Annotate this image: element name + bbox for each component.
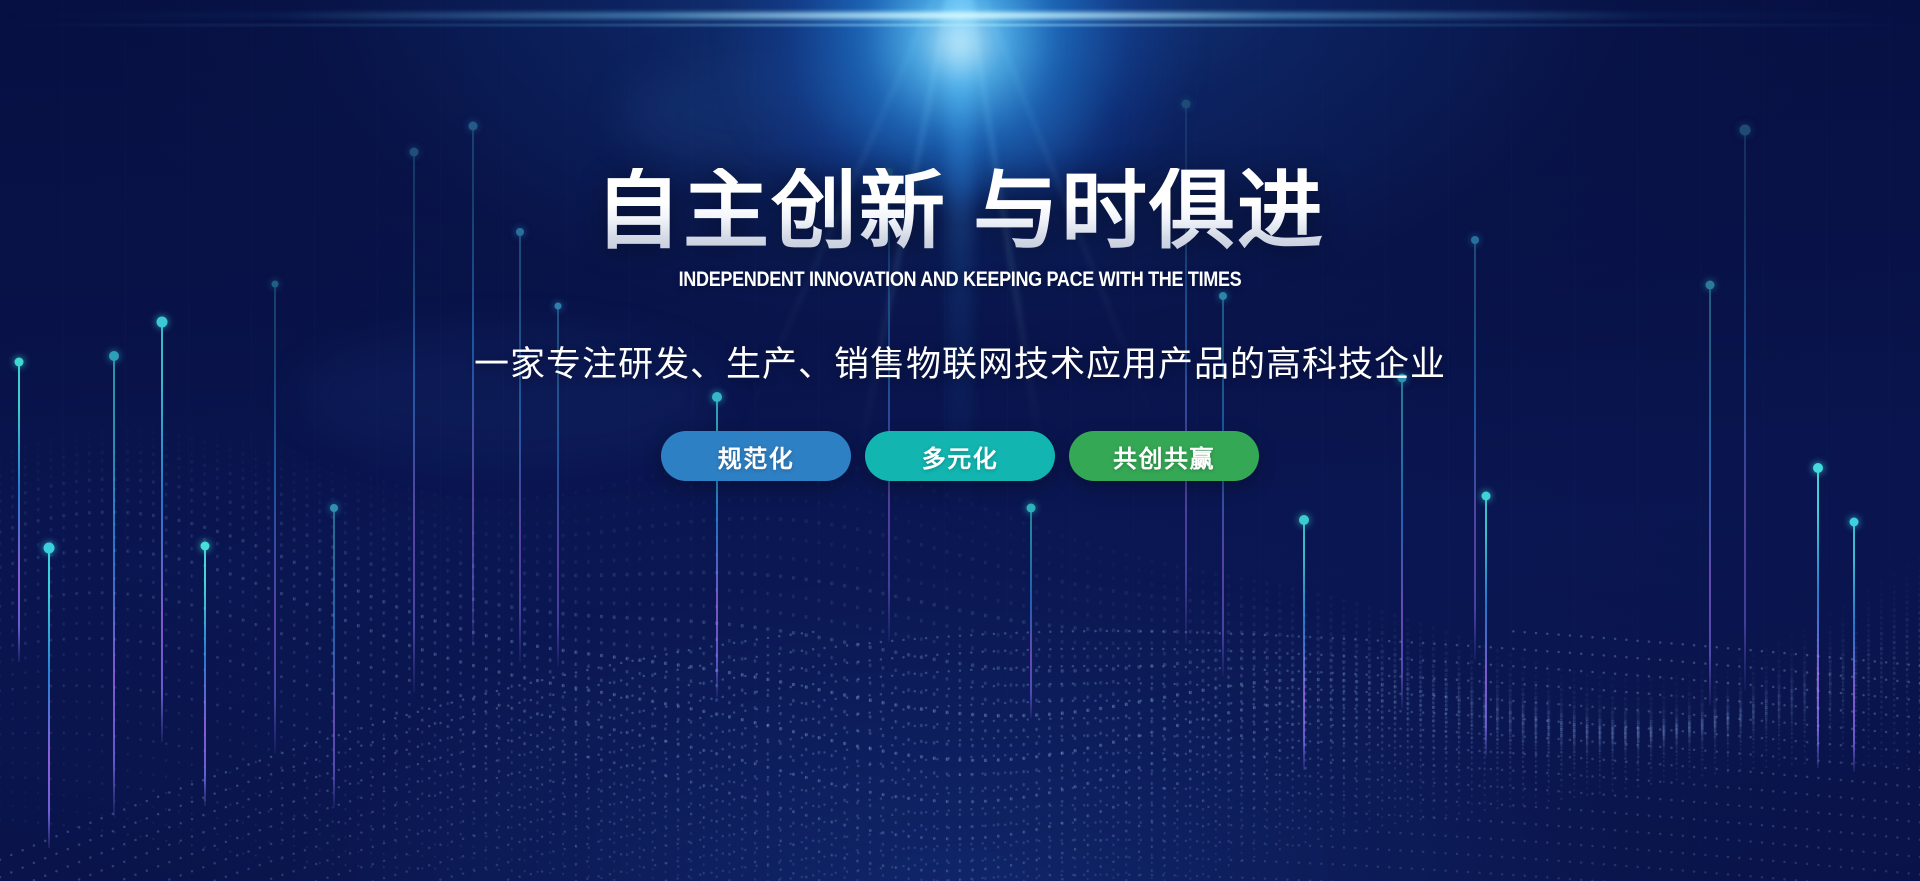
page-title-part2: 与时俱进 xyxy=(973,163,1325,259)
page-tagline-chinese: 一家专注研发、生产、销售物联网技术应用产品的高科技企业 xyxy=(0,336,1920,387)
feature-pill-3[interactable]: 共创共赢 xyxy=(1069,431,1259,481)
feature-pill-1[interactable]: 规范化 xyxy=(661,431,851,481)
hero-content: 自主创新与时俱进 INDEPENDENT INNOVATION AND KEEP… xyxy=(0,0,1920,481)
hero-banner: 自主创新与时俱进 INDEPENDENT INNOVATION AND KEEP… xyxy=(0,0,1920,881)
feature-pill-group: 规范化多元化共创共赢 xyxy=(0,431,1920,481)
page-title: 自主创新与时俱进 xyxy=(0,168,1920,254)
page-subtitle-english: INDEPENDENT INNOVATION AND KEEPING PACE … xyxy=(134,268,1785,292)
page-title-part1: 自主创新 xyxy=(595,163,947,259)
feature-pill-2[interactable]: 多元化 xyxy=(865,431,1055,481)
